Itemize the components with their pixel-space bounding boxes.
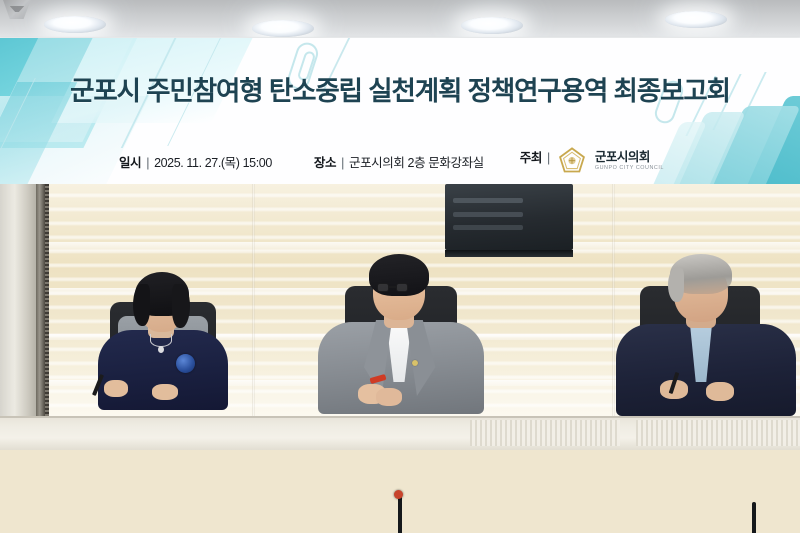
banner-host-separator: | — [546, 151, 551, 165]
banner-date-label: 일시 — [119, 152, 141, 171]
banner-date-separator: | — [145, 156, 150, 170]
banner-host-group: 주최 | 군포시의회 GUNPO CITY COUNCIL — [520, 147, 664, 175]
gunpo-city-council-emblem-icon — [558, 147, 586, 175]
participant-left-hand — [104, 380, 128, 397]
participant-left-hair-side — [172, 284, 190, 328]
participant-center-hand — [376, 388, 402, 406]
banner-place-value: 군포시의회 2층 문화강좌실 — [349, 152, 484, 171]
participant-left-hand — [152, 384, 178, 400]
microphone-arm — [752, 502, 756, 533]
banner-meta-row: 일시 | 2025. 11. 27.(목) 15:00 장소 | 군포시의회 2… — [0, 138, 800, 184]
banner-place-separator: | — [340, 156, 345, 170]
microphone-arm — [398, 496, 402, 533]
window-frame — [0, 184, 36, 416]
microphone-head-icon — [394, 490, 403, 499]
event-banner: 군포시 주민참여형 탄소중립 실천계획 정책연구용역 최종보고회 일시 | 20… — [0, 38, 800, 184]
participant-right-hair-side — [668, 268, 684, 302]
emblem-name-kr: 군포시의회 — [595, 151, 664, 164]
banner-title: 군포시 주민참여형 탄소중립 실천계획 정책연구용역 최종보고회 — [0, 38, 800, 138]
window-frame-track — [45, 184, 49, 416]
blind-slat — [0, 242, 800, 251]
banner-date-group: 일시 | 2025. 11. 27.(목) 15:00 — [119, 152, 272, 171]
emblem-text-block: 군포시의회 GUNPO CITY COUNCIL — [595, 151, 664, 172]
window-frame-edge — [36, 184, 45, 416]
emblem-name-en: GUNPO CITY COUNCIL — [595, 166, 664, 171]
radiator-grille — [470, 420, 620, 446]
eyeglasses-icon — [377, 283, 421, 295]
recessed-downlight-icon — [665, 11, 727, 28]
lapel-pin-icon — [412, 360, 418, 366]
wall-display-panel — [445, 184, 573, 250]
banner-host-label: 주최 — [520, 147, 542, 166]
participant-right-hand — [706, 382, 734, 401]
participant-left-hair-side — [133, 284, 150, 326]
banner-place-group: 장소 | 군포시의회 2층 문화강좌실 — [314, 152, 484, 171]
radiator-grille — [636, 420, 800, 446]
ceiling — [0, 0, 800, 40]
ceiling-vent-icon — [2, 0, 32, 19]
meeting-photo-screenshot: 군포시 주민참여형 탄소중립 실천계획 정책연구용역 최종보고회 일시 | 20… — [0, 0, 800, 533]
wall-display-panel-edge — [445, 250, 573, 257]
recessed-downlight-icon — [44, 16, 106, 33]
meeting-room-photo: 이 영 숙 이 우 천 — [0, 184, 800, 533]
banner-date-value: 2025. 11. 27.(목) 15:00 — [154, 152, 272, 171]
banner-place-label: 장소 — [314, 152, 336, 171]
recessed-downlight-icon — [252, 20, 314, 37]
flower-brooch-icon — [176, 354, 195, 373]
blind-seam — [612, 184, 615, 426]
blind-seam — [252, 184, 255, 426]
recessed-downlight-icon — [461, 17, 523, 34]
necklace-pendant — [158, 346, 164, 353]
